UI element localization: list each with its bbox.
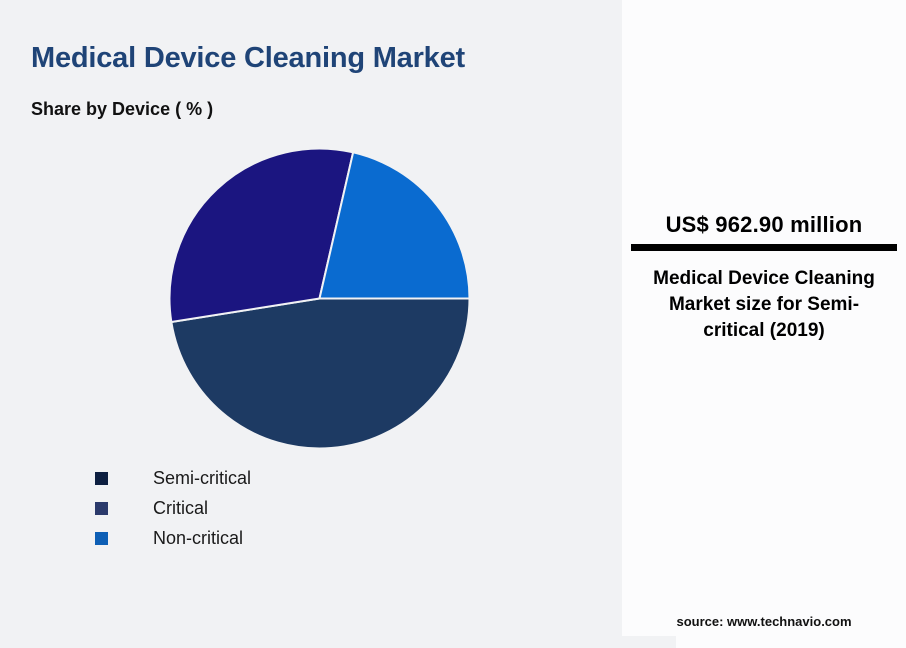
- legend-item-non-critical[interactable]: Non-critical: [95, 523, 251, 553]
- page-title: Medical Device Cleaning Market: [31, 42, 465, 75]
- kpi-caption: Medical Device Cleaning Market size for …: [622, 266, 906, 343]
- kpi-block: US$ 962.90 million Medical Device Cleani…: [622, 212, 906, 343]
- legend-swatch-icon: [95, 532, 108, 545]
- panel-foot-notch: [620, 636, 676, 648]
- kpi-underline-rule: [631, 244, 897, 251]
- chart-panel: Medical Device Cleaning Market Share by …: [0, 0, 620, 648]
- legend-swatch-icon: [95, 472, 108, 485]
- legend-item-label: Non-critical: [153, 528, 243, 549]
- legend-item-label: Critical: [153, 498, 208, 519]
- legend-swatch-icon: [95, 502, 108, 515]
- pie-slice[interactable]: [171, 299, 469, 449]
- chart-legend: Semi-critical Critical Non-critical: [95, 463, 251, 553]
- kpi-panel: US$ 962.90 million Medical Device Cleani…: [622, 0, 906, 648]
- source-note: source: www.technavio.com: [622, 614, 906, 629]
- legend-item-critical[interactable]: Critical: [95, 493, 251, 523]
- kpi-value: US$ 962.90 million: [622, 212, 906, 238]
- chart-subtitle: Share by Device ( % ): [31, 99, 213, 120]
- legend-item-label: Semi-critical: [153, 468, 251, 489]
- infographic-page: Medical Device Cleaning Market Share by …: [0, 0, 906, 648]
- pie-chart-svg: [169, 148, 470, 449]
- pie-chart: [169, 148, 470, 449]
- legend-item-semi-critical[interactable]: Semi-critical: [95, 463, 251, 493]
